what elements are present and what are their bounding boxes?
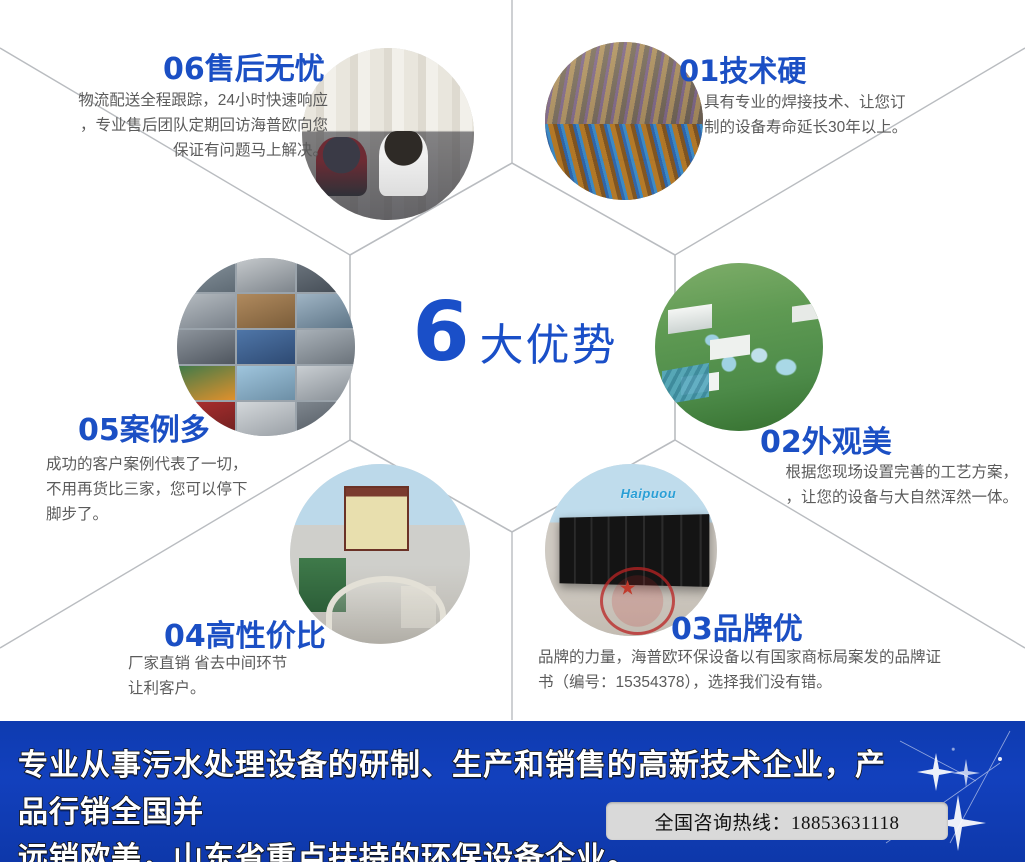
- advantage-06-desc: 物流配送全程跟踪，24小时快速响应 ，专业售后团队定期回访海普欧向您 保证有问题…: [20, 88, 328, 163]
- advantage-06-heading: 06售后无忧: [163, 44, 325, 88]
- advantage-02-number: 02: [760, 425, 802, 460]
- hotline-text: 全国咨询热线：18853631118: [654, 808, 899, 835]
- center-label: 6 大优势: [395, 292, 635, 382]
- advantage-01-heading: 01技术硬: [679, 48, 806, 90]
- advantage-04-heading: 04高性价比: [164, 611, 326, 655]
- advantage-03-desc: 品牌的力量，海普欧环保设备以有国家商标局案发的品牌证 书（编号：15354378…: [538, 645, 1018, 695]
- advantage-04-desc: 厂家直销 省去中间环节 让利客户。: [128, 651, 428, 701]
- advantage-04-number: 04: [164, 619, 206, 654]
- advantage-03-title: 品牌优: [713, 613, 803, 646]
- advantage-01-number: 01: [679, 54, 719, 88]
- advantage-06-number: 06: [163, 52, 205, 87]
- advantage-03-number: 03: [671, 612, 713, 647]
- advantage-05-heading: 05案例多: [78, 405, 210, 449]
- advantage-02-image: [655, 263, 823, 431]
- advantage-02-heading: 02外观美: [760, 417, 892, 461]
- advantage-02-desc: 根据您现场设置完善的工艺方案， ，让您的设备与大自然浑然一体。: [698, 460, 1018, 510]
- advantage-01-desc: 具有专业的焊接技术、让您订 制的设备寿命延长30年以上。: [704, 90, 1004, 140]
- center-text: 大优势: [480, 309, 618, 373]
- haipuou-logo: Haipuou: [621, 486, 677, 501]
- red-stamp-star-icon: ★: [619, 575, 637, 600]
- bottom-banner: 专业从事污水处理设备的研制、生产和销售的高新技术企业，产品行销全国并 远销欧美，…: [0, 721, 1025, 862]
- center-number: 6: [412, 292, 469, 374]
- infographic-page: 06售后无忧 物流配送全程跟踪，24小时快速响应 ，专业售后团队定期回访海普欧向…: [0, 0, 1025, 862]
- advantage-05-title: 案例多: [120, 414, 210, 447]
- advantage-05-number: 05: [78, 413, 120, 448]
- advantage-01-title: 技术硬: [719, 56, 806, 88]
- aerial-plant-photo: [655, 263, 823, 431]
- hotline-box[interactable]: 全国咨询热线：18853631118: [606, 802, 948, 840]
- advantage-03-heading: 03品牌优: [671, 604, 803, 648]
- advantage-06-title: 售后无忧: [205, 53, 325, 86]
- advantage-02-title: 外观美: [802, 426, 892, 459]
- advantage-04-title: 高性价比: [206, 620, 326, 653]
